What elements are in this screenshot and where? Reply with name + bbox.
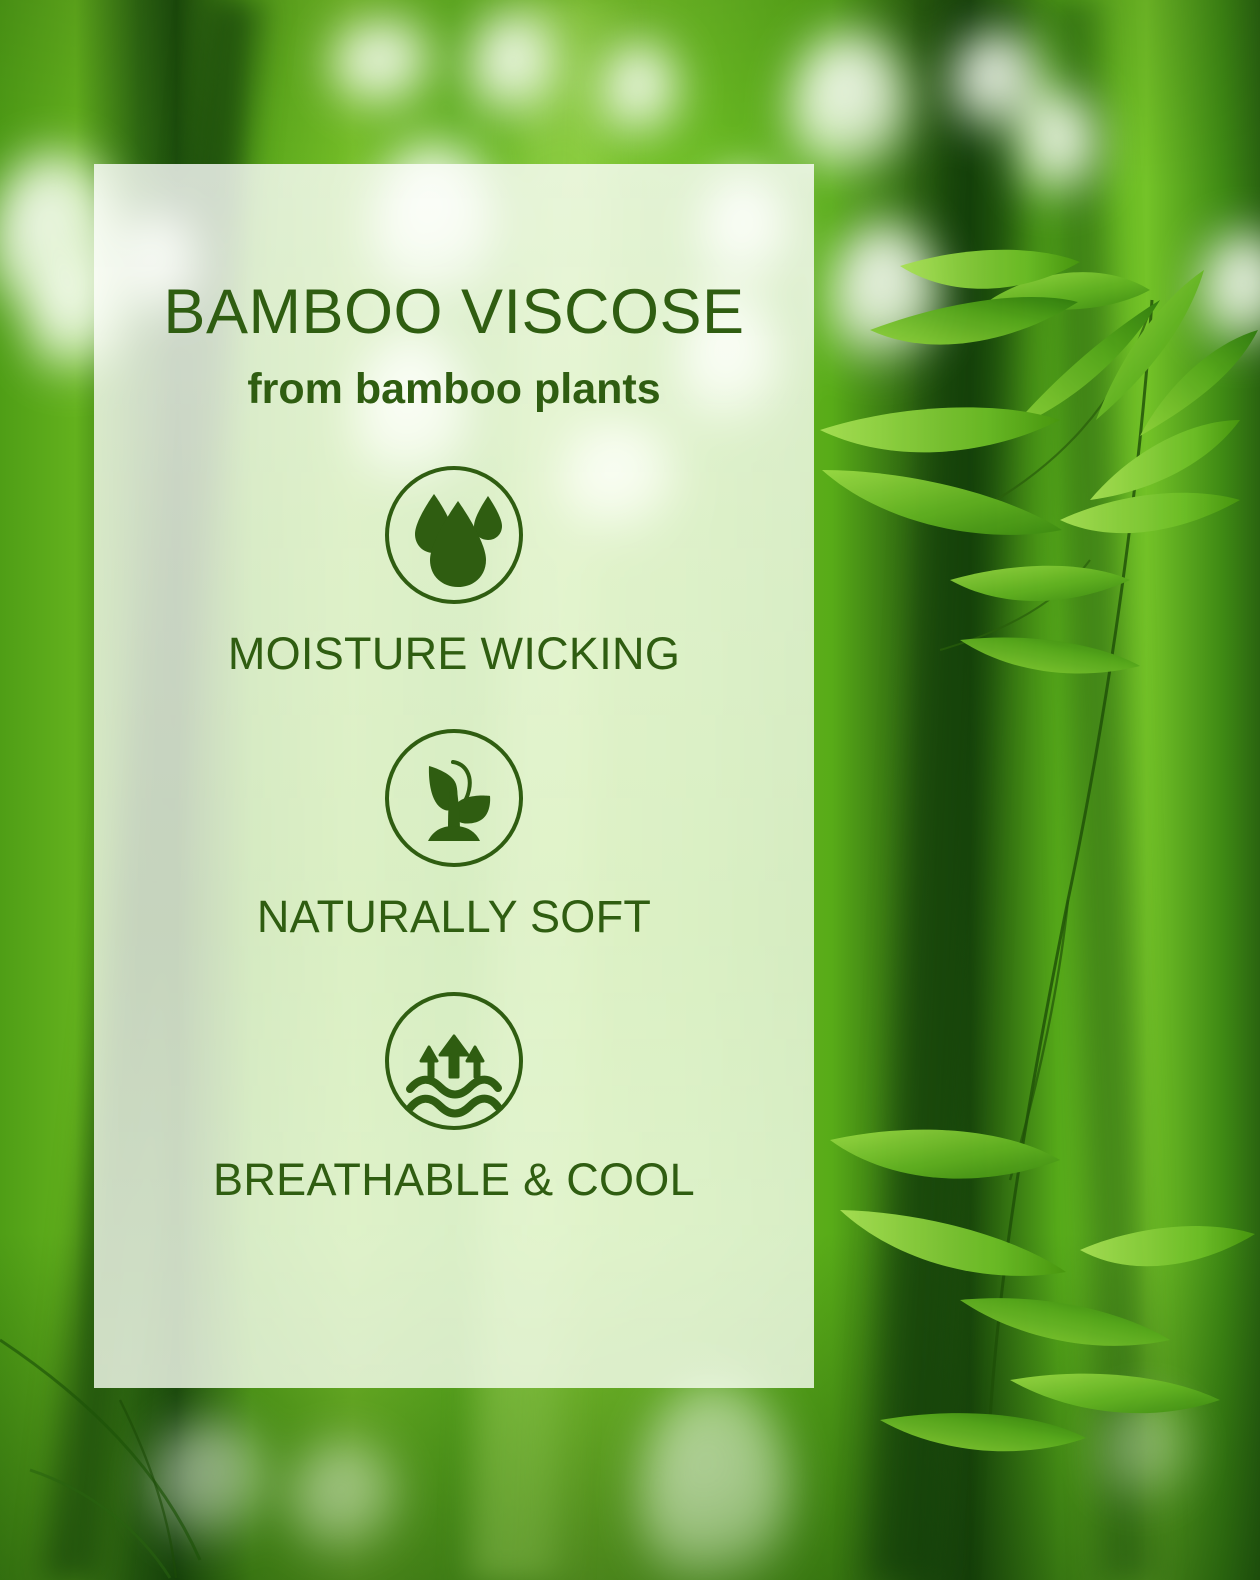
feature-list: MOISTURE WICKING [94,465,814,1202]
water-drops-icon [384,465,524,605]
feature-label-naturally-soft: NATURALLY SOFT [257,894,651,939]
feature-item-naturally-soft: NATURALLY SOFT [257,728,651,939]
content-panel: BAMBOO VISCOSE from bamboo plants [94,164,814,1388]
sprout-plant-icon [384,728,524,868]
page-subtitle: from bamboo plants [247,368,660,411]
feature-item-moisture-wicking: MOISTURE WICKING [228,465,680,676]
page-title: BAMBOO VISCOSE [163,281,744,344]
bamboo-viscose-infographic: BAMBOO VISCOSE from bamboo plants [0,0,1260,1580]
feature-label-moisture-wicking: MOISTURE WICKING [228,631,680,676]
breathable-airflow-icon [384,991,524,1131]
feature-item-breathable-cool: BREATHABLE & COOL [213,991,695,1202]
feature-label-breathable-cool: BREATHABLE & COOL [213,1157,695,1202]
